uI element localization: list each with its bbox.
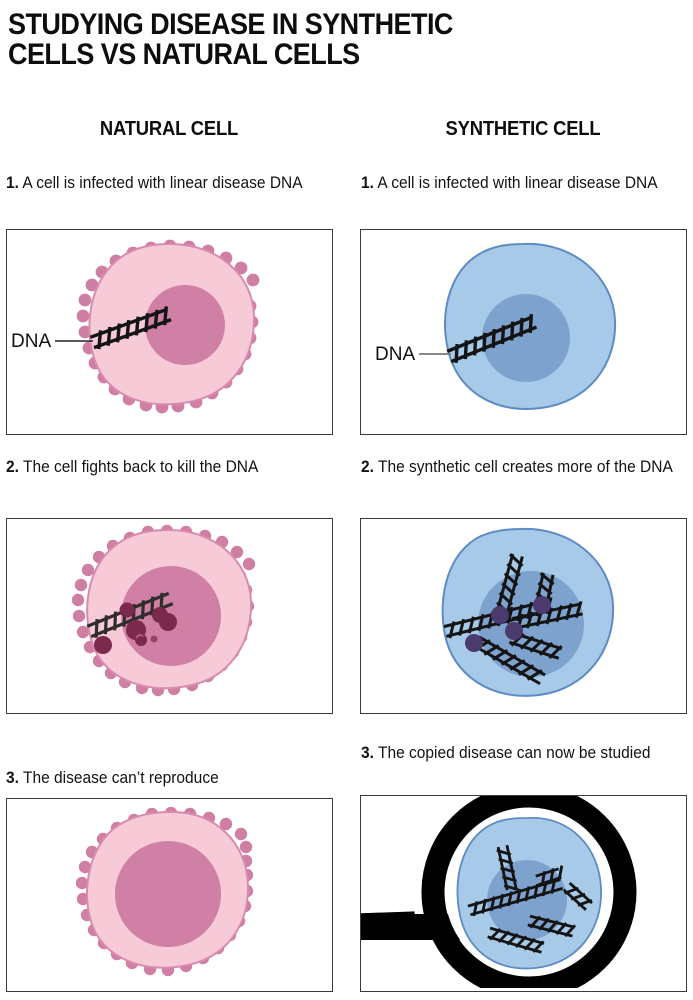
step-number: 1. [6, 174, 19, 192]
caption-synthetic-step-2: 2. The synthetic cell creates more of th… [361, 458, 690, 477]
step-text: The copied disease can now be studied [378, 744, 650, 762]
step-number: 2. [361, 458, 374, 476]
panel-synthetic-step-2 [360, 518, 687, 714]
step-text: The cell fights back to kill the DNA [23, 458, 258, 476]
natural-cell-fighting-diagram [7, 519, 329, 710]
page-title: STUDYING DISEASE IN SYNTHETIC CELLS VS N… [8, 10, 616, 70]
magnified-synthetic-cell-diagram [361, 796, 683, 988]
panel-synthetic-step-1: DNA [360, 229, 687, 435]
column-header-natural: NATURAL CELL [19, 118, 319, 141]
step-text: The disease can’t reproduce [23, 769, 219, 787]
column-header-synthetic: SYNTHETIC CELL [373, 118, 673, 141]
panel-synthetic-step-3 [360, 795, 687, 992]
panel-natural-step-3 [6, 798, 333, 992]
synthetic-cell-replicating-diagram [361, 519, 683, 710]
caption-natural-step-2: 2. The cell fights back to kill the DNA [6, 458, 335, 477]
dna-label: DNA [375, 344, 415, 365]
page-title-line-2: CELLS VS NATURAL CELLS [8, 40, 616, 70]
step-text: A cell is infected with linear disease D… [377, 174, 657, 192]
step-number: 3. [6, 769, 19, 787]
natural-cell-infected-diagram: DNA [7, 230, 329, 431]
page-title-line-1: STUDYING DISEASE IN SYNTHETIC [8, 10, 616, 40]
step-number: 1. [361, 174, 374, 192]
caption-natural-step-1: 1. A cell is infected with linear diseas… [6, 174, 335, 193]
panel-natural-step-2 [6, 518, 333, 714]
caption-natural-step-3: 3. The disease can’t reproduce [6, 769, 335, 788]
step-number: 2. [6, 458, 19, 476]
dna-label: DNA [11, 331, 51, 352]
caption-synthetic-step-1: 1. A cell is infected with linear diseas… [361, 174, 690, 193]
panel-natural-step-1: DNA [6, 229, 333, 435]
natural-cell-clean-diagram [7, 799, 329, 988]
caption-synthetic-step-3: 3. The copied disease can now be studied [361, 744, 690, 763]
step-text: A cell is infected with linear disease D… [22, 174, 302, 192]
synthetic-cell-infected-diagram: DNA [361, 230, 683, 431]
step-text: The synthetic cell creates more of the D… [378, 458, 673, 476]
step-number: 3. [361, 744, 374, 762]
cell-nucleus [115, 841, 221, 947]
